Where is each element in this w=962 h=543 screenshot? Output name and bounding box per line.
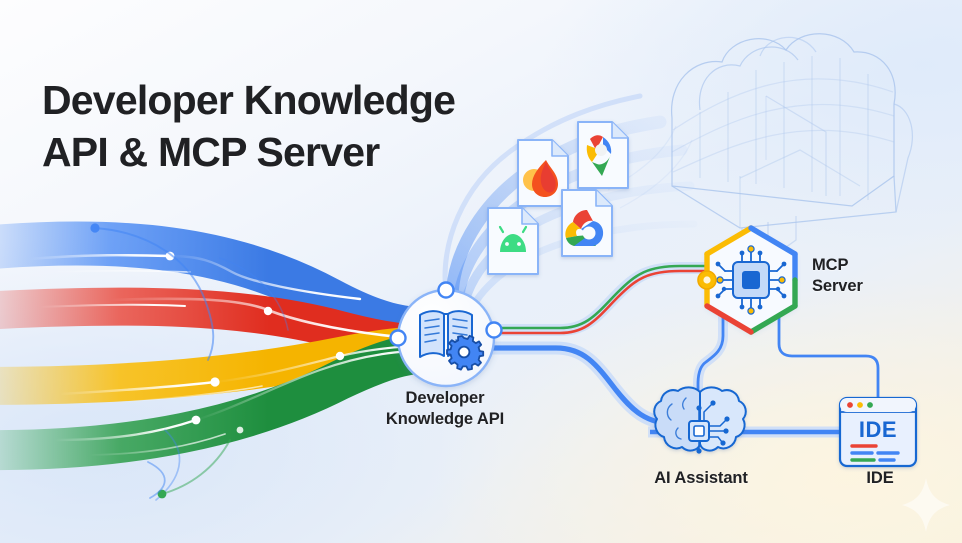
label-ide: IDE <box>820 468 940 489</box>
maps-doc-card[interactable] <box>578 122 628 188</box>
hub-port-top[interactable] <box>439 283 454 298</box>
hub-port-right[interactable] <box>487 323 502 338</box>
node-mcp-server[interactable] <box>698 228 795 332</box>
hub-port-left[interactable] <box>391 331 406 346</box>
node-ide[interactable]: IDE <box>840 398 916 466</box>
page-title: Developer Knowledge API & MCP Server <box>42 74 455 179</box>
firebase-doc-card[interactable] <box>518 140 568 206</box>
ribbon-group <box>0 223 446 500</box>
cloud-doc-card[interactable] <box>562 190 612 256</box>
ide-screen-label: IDE <box>859 417 897 442</box>
node-ai-assistant[interactable] <box>654 387 746 453</box>
label-mcp-server: MCP Server <box>812 255 932 297</box>
connector-mcp-to-ide <box>779 306 878 398</box>
window-traffic-lights <box>847 402 873 408</box>
wireframe-cloud-icon <box>608 34 912 252</box>
android-doc-card[interactable] <box>488 208 538 274</box>
brain-circuit-icon <box>654 387 746 453</box>
illustration-canvas: IDE <box>0 0 962 543</box>
label-ai-assistant: AI Assistant <box>626 468 776 489</box>
connector-hub-to-mcp <box>490 266 716 333</box>
label-developer-knowledge-api: Developer Knowledge API <box>345 388 545 430</box>
